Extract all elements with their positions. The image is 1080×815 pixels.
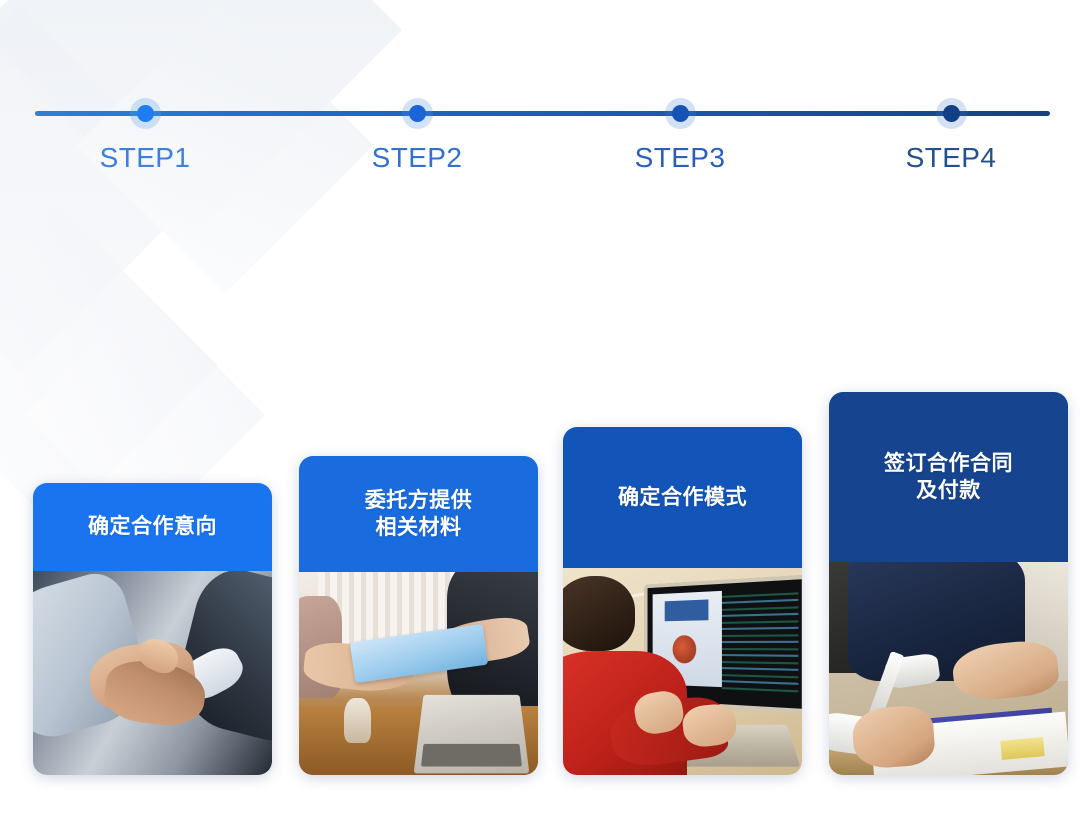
step-card-3-title-line-1: 确定合作模式 [618,484,747,511]
handshake-photo [33,571,272,775]
step-card-2-title-line-2: 相关材料 [376,514,462,541]
document-handover-photo [299,572,538,775]
step-card-4[interactable]: 签订合作合同 及付款 [829,392,1068,775]
laptop-work-photo [563,568,802,775]
step-card-1-title-line-1: 确定合作意向 [88,513,217,540]
contract-signing-photo [829,562,1068,775]
step-card-3-title: 确定合作模式 [563,427,802,568]
step-card-3[interactable]: 确定合作模式 [563,427,802,775]
slide-canvas: STEP1 STEP2 STEP3 STEP4 确定合作意向 [0,0,1080,815]
step-card-2-title-line-1: 委托方提供 [365,487,473,514]
step-card-2[interactable]: 委托方提供 相关材料 [299,456,538,775]
step-card-4-title-line-1: 签订合作合同 [884,450,1013,477]
step-card-2-title: 委托方提供 相关材料 [299,456,538,572]
step-card-1[interactable]: 确定合作意向 [33,483,272,775]
step-card-4-title-line-2: 及付款 [916,477,981,504]
step-card-4-title: 签订合作合同 及付款 [829,392,1068,562]
step-card-1-title: 确定合作意向 [33,483,272,571]
step-card-group: 确定合作意向 委托方提供 相关材料 [0,0,1080,815]
